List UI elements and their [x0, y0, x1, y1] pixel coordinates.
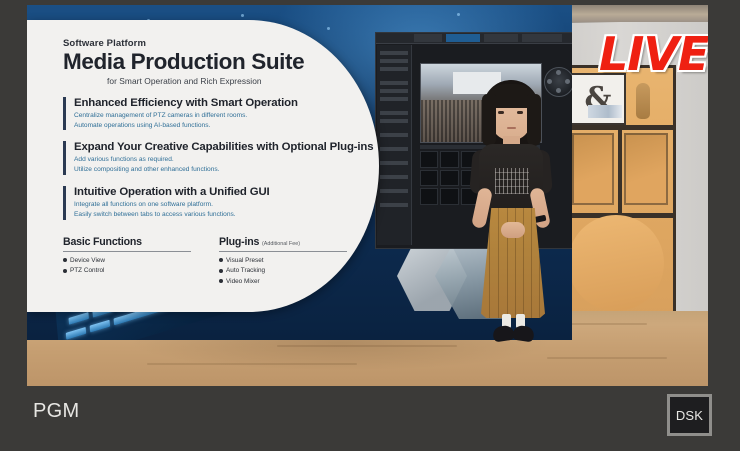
presenter-figure	[455, 80, 575, 372]
slide-column-item: Auto Tracking	[219, 266, 347, 276]
slide-feature-line: Easily switch between tabs to access var…	[74, 210, 363, 220]
slide-feature: Expand Your Creative Capabilities with O…	[63, 141, 363, 175]
slide-eyebrow: Software Platform	[63, 38, 363, 49]
slide-column-item: Device View	[63, 256, 191, 266]
bullet-icon	[219, 269, 223, 273]
slide-feature-line: Centralize management of PTZ cameras in …	[74, 111, 363, 121]
slide-feature-line: Integrate all functions on one software …	[74, 200, 363, 210]
slide-column-plugins: Plug-ins (Additional Fee) Visual Preset …	[219, 236, 347, 287]
slide-column-item: Visual Preset	[219, 256, 347, 266]
slide-column-item: PTZ Control	[63, 266, 191, 276]
slide-function-columns: Basic Functions Device View PTZ Control …	[63, 236, 363, 287]
shelf-vase	[636, 83, 650, 119]
slide-column-heading: Basic Functions	[63, 236, 142, 248]
program-monitor-bottom-bar	[0, 386, 740, 451]
slide-column-basic-functions: Basic Functions Device View PTZ Control	[63, 236, 191, 287]
slide-feature-line: Automate operations using AI-based funct…	[74, 121, 363, 131]
divider	[219, 251, 347, 252]
slide-feature: Intuitive Operation with a Unified GUI I…	[63, 186, 363, 220]
bullet-icon	[219, 279, 223, 283]
live-badge: LIVE	[599, 31, 708, 77]
slide-feature: Enhanced Efficiency with Smart Operation…	[63, 97, 363, 131]
studio-shelf-unit: &	[564, 65, 676, 333]
slide-feature-title: Intuitive Operation with a Unified GUI	[74, 186, 363, 198]
slide-feature-title: Expand Your Creative Capabilities with O…	[74, 141, 363, 153]
slide-subtitle: for Smart Operation and Rich Expression	[107, 76, 363, 86]
pgm-label: PGM	[33, 400, 79, 423]
program-video-output[interactable]: &	[27, 5, 708, 386]
bullet-icon	[63, 258, 67, 262]
slide-feature-title: Enhanced Efficiency with Smart Operation	[74, 97, 363, 109]
slide-column-item: Video Mixer	[219, 277, 347, 287]
slide-title: Media Production Suite	[63, 50, 363, 74]
bullet-icon	[219, 258, 223, 262]
shelf-books	[588, 105, 622, 118]
program-monitor-window: &	[0, 0, 740, 451]
slide-feature-line: Add various functions as required.	[74, 155, 363, 165]
slide-column-note: (Additional Fee)	[262, 241, 300, 247]
bullet-icon	[63, 269, 67, 273]
slide-column-heading: Plug-ins	[219, 236, 259, 248]
slide-feature-line: Utilize compositing and other enhanced f…	[74, 165, 363, 175]
dsk-button[interactable]: DSK	[667, 394, 712, 436]
divider	[63, 251, 191, 252]
dsk-slide-graphic: Software Platform Media Production Suite…	[27, 20, 379, 312]
